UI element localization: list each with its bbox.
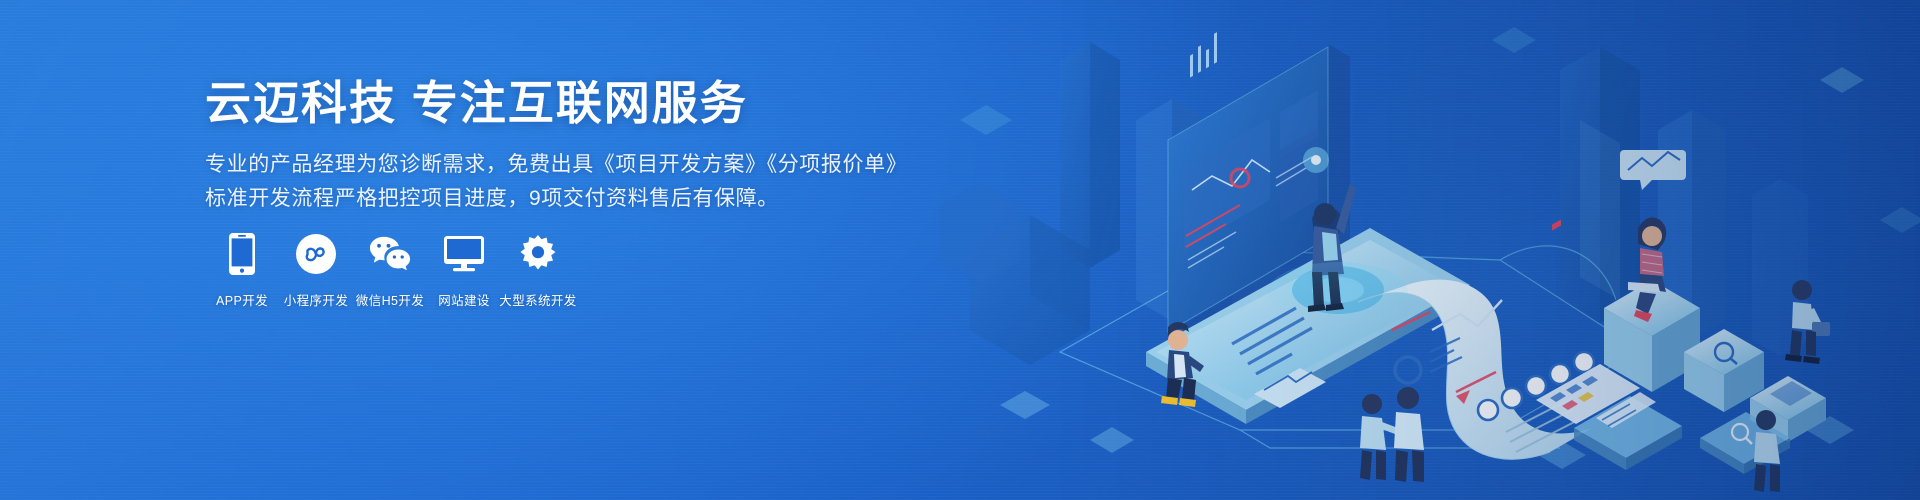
illustration-isometric-business-technology [940, 0, 1920, 500]
person-laptop [1628, 217, 1666, 322]
service-label: 网站建设 [438, 290, 490, 309]
monitor-icon [443, 232, 485, 276]
person-briefcase [1785, 280, 1830, 364]
person-bottom-right [1754, 410, 1780, 492]
floating-chart-bubble [1620, 150, 1686, 190]
person-bottom-b [1394, 387, 1424, 482]
service-item-app[interactable]: APP开发 [205, 232, 279, 309]
table-widget [1536, 219, 1640, 424]
service-label: APP开发 [216, 290, 268, 309]
mini-card [1254, 368, 1326, 408]
hero-copy: 云迈科技 专注互联网服务 专业的产品经理为您诊断需求，免费出具《项目开发方案》《… [205, 0, 945, 500]
service-item-mini-program[interactable]: 小程序开发 [279, 232, 353, 309]
hero-banner: 云迈科技 专注互联网服务 专业的产品经理为您诊断需求，免费出具《项目开发方案》《… [0, 0, 1920, 500]
subtitle-line-1: 专业的产品经理为您诊断需求，免费出具《项目开发方案》《分项报价单》 [205, 148, 907, 182]
service-label: 微信H5开发 [356, 290, 424, 309]
data-sheet [1358, 280, 1594, 460]
page-title: 云迈科技 专注互联网服务 [205, 76, 748, 130]
wechat-icon [369, 232, 411, 276]
dashboard-screen [1168, 32, 1350, 352]
tablet-platform [1146, 228, 1470, 424]
background-towers [940, 27, 1920, 469]
ground-guides [1060, 246, 1640, 448]
service-label: 大型系统开发 [499, 290, 576, 309]
service-label: 小程序开发 [284, 290, 349, 309]
mini-program-icon [295, 232, 337, 276]
mobile-phone-icon [221, 232, 263, 276]
person-bottom-a [1360, 394, 1398, 480]
bottom-cards [1574, 392, 1790, 474]
gear-icon [517, 232, 559, 276]
service-item-website[interactable]: 网站建设 [427, 232, 501, 309]
service-item-wechat-h5[interactable]: 微信H5开发 [353, 232, 427, 309]
service-item-large-system[interactable]: 大型系统开发 [501, 232, 575, 309]
subtitle-line-2: 标准开发流程严格把控项目进度，9项交付资料售后有保障。 [205, 182, 779, 216]
service-list: APP开发 小程序开发 [205, 232, 575, 309]
person-presenter [1308, 184, 1356, 312]
step-blocks [1604, 280, 1826, 442]
person-sitting-left [1161, 322, 1204, 407]
